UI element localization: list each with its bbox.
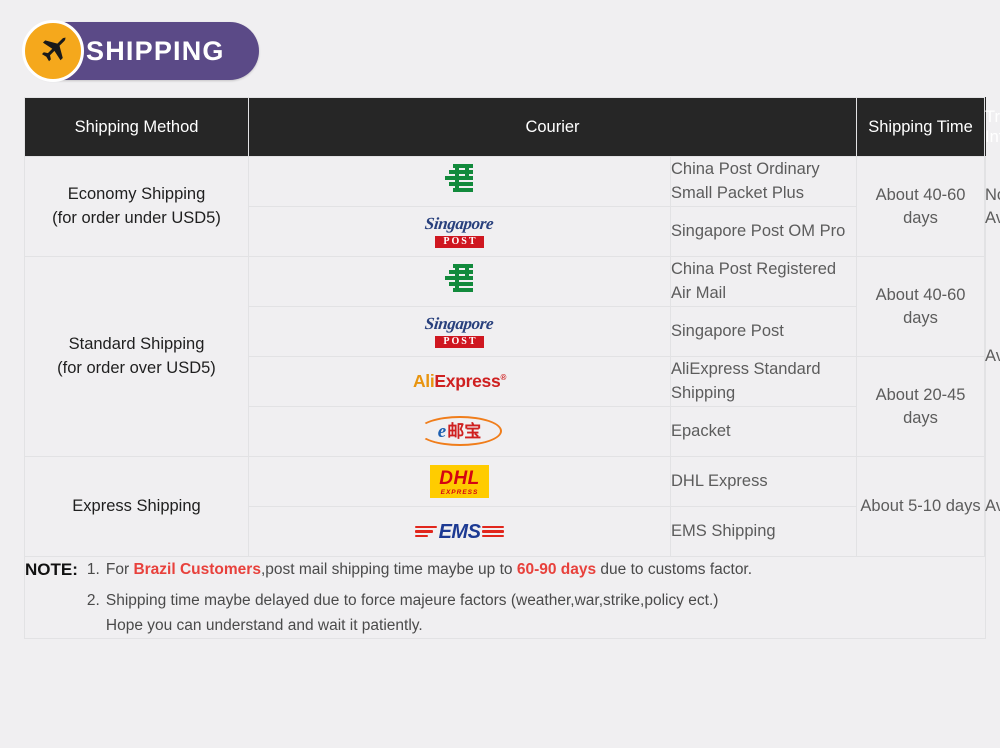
column-header-tracking-information: Tracking Information (985, 98, 986, 157)
note-line1: Shipping time maybe delayed due to force… (106, 592, 719, 609)
note-number: 2. (87, 588, 106, 613)
singapore-post-logo: Singapore POST (249, 307, 671, 357)
tracking-status: Available (985, 457, 986, 557)
column-header-shipping-time: Shipping Time (857, 98, 985, 157)
table-row: Express Shipping DHL EXPRESS DHL Express… (25, 457, 986, 507)
shipping-method-standard: Standard Shipping (for order over USD5) (25, 257, 249, 457)
singapore-post-mark: Singapore POST (425, 215, 493, 248)
courier-name: EMS Shipping (671, 507, 857, 557)
note-list: 1. For Brazil Customers,post mail shippi… (87, 557, 985, 638)
note-section: NOTE: 1. For Brazil Customers,post mail … (25, 557, 986, 639)
note-part: due to customs factor. (596, 561, 752, 578)
china-post-mark (439, 261, 481, 302)
singapore-post-script: Singapore (424, 215, 494, 232)
note-text-1: For Brazil Customers,post mail shipping … (106, 557, 985, 582)
page-title: SHIPPING (86, 36, 225, 67)
shipping-table-wrap: Shipping Method Courier Shipping Time Tr… (0, 80, 1000, 639)
tracking-header-line2: Information (985, 128, 1000, 146)
china-post-mark (439, 161, 481, 202)
epacket-logo: e 邮宝 (249, 407, 671, 457)
shipping-table: Shipping Method Courier Shipping Time Tr… (24, 97, 986, 639)
shipping-time: About 40-60 days (857, 157, 985, 257)
epacket-mark: e 邮宝 (418, 415, 502, 449)
note-line2: Hope you can understand and wait it pati… (106, 617, 423, 634)
epacket-chinese: 邮宝 (447, 423, 481, 440)
ems-bars-left (415, 526, 437, 538)
table-row: Standard Shipping (for order over USD5) (25, 257, 986, 307)
courier-name: China Post Ordinary Small Packet Plus (671, 157, 857, 207)
shipping-time: About 20-45 days (857, 357, 985, 457)
shipping-method-economy: Economy Shipping (for order under USD5) (25, 157, 249, 257)
table-row: Economy Shipping (for order under USD5) (25, 157, 986, 207)
tracking-status: Available (985, 257, 986, 457)
aliexpress-mark: AliExpress® (413, 373, 506, 391)
shipping-method-express: Express Shipping (25, 457, 249, 557)
courier-name: Epacket (671, 407, 857, 457)
shipping-badge: SHIPPING (24, 22, 259, 80)
singapore-post-mark: Singapore POST (425, 315, 493, 348)
dhl-mark: DHL EXPRESS (430, 465, 489, 499)
ems-mark: EMS (249, 522, 670, 542)
airplane-icon (22, 20, 84, 82)
china-post-logo (249, 157, 671, 207)
table-body: Economy Shipping (for order under USD5) (25, 157, 986, 639)
aliexpress-logo: AliExpress® (249, 357, 671, 407)
table-header: Shipping Method Courier Shipping Time Tr… (25, 98, 986, 157)
epacket-e: e (438, 422, 446, 441)
aliexpress-part2: Express (434, 371, 500, 391)
note-text-2: Shipping time maybe delayed due to force… (106, 588, 985, 638)
shipping-time: About 40-60 days (857, 257, 985, 357)
singapore-post-script: Singapore (424, 315, 494, 332)
dhl-logo: DHL EXPRESS (249, 457, 671, 507)
ems-bars-right (482, 526, 504, 538)
column-header-courier: Courier (249, 98, 857, 157)
note-row-container: NOTE: 1. For Brazil Customers,post mail … (25, 557, 986, 639)
shipping-time: About 5-10 days (857, 457, 985, 557)
courier-name: Singapore Post (671, 307, 857, 357)
singapore-post-logo: Singapore POST (249, 207, 671, 257)
tracking-status: Not Available (985, 157, 986, 257)
method-line1: Economy Shipping (68, 185, 206, 203)
method-line2: (for order under USD5) (52, 209, 221, 227)
note-part: For (106, 561, 134, 578)
epacket-inner: e 邮宝 (418, 415, 502, 449)
courier-name: Singapore Post OM Pro (671, 207, 857, 257)
courier-name: China Post Registered Air Mail (671, 257, 857, 307)
note-label: NOTE: (25, 557, 78, 583)
header-section: SHIPPING (0, 0, 1000, 80)
note-part: ,post mail shipping time maybe up to (261, 561, 517, 578)
method-line1: Standard Shipping (69, 335, 205, 353)
china-post-logo (249, 257, 671, 307)
ems-text: EMS (439, 522, 481, 542)
note-highlight-brazil: Brazil Customers (133, 561, 260, 578)
tracking-header-line1: Tracking (985, 108, 1000, 126)
ems-logo: EMS (249, 507, 671, 557)
singapore-post-badge: POST (435, 236, 483, 248)
singapore-post-badge: POST (435, 336, 483, 348)
list-item: 2. Shipping time maybe delayed due to fo… (87, 588, 985, 638)
list-item: 1. For Brazil Customers,post mail shippi… (87, 557, 985, 582)
tracking-line1: Not (985, 186, 1000, 204)
aliexpress-tm: ® (500, 373, 506, 382)
method-line2: (for order over USD5) (57, 359, 216, 377)
courier-name: DHL Express (671, 457, 857, 507)
note-highlight-days: 60-90 days (517, 561, 596, 578)
courier-name: AliExpress Standard Shipping (671, 357, 857, 407)
column-header-shipping-method: Shipping Method (25, 98, 249, 157)
tracking-line2: Available (985, 209, 1000, 227)
aliexpress-part1: Ali (413, 371, 434, 391)
header-row: Shipping Method Courier Shipping Time Tr… (25, 98, 986, 157)
dhl-subtext: EXPRESS (439, 490, 480, 497)
dhl-text: DHL (439, 469, 480, 488)
note-number: 1. (87, 557, 106, 582)
